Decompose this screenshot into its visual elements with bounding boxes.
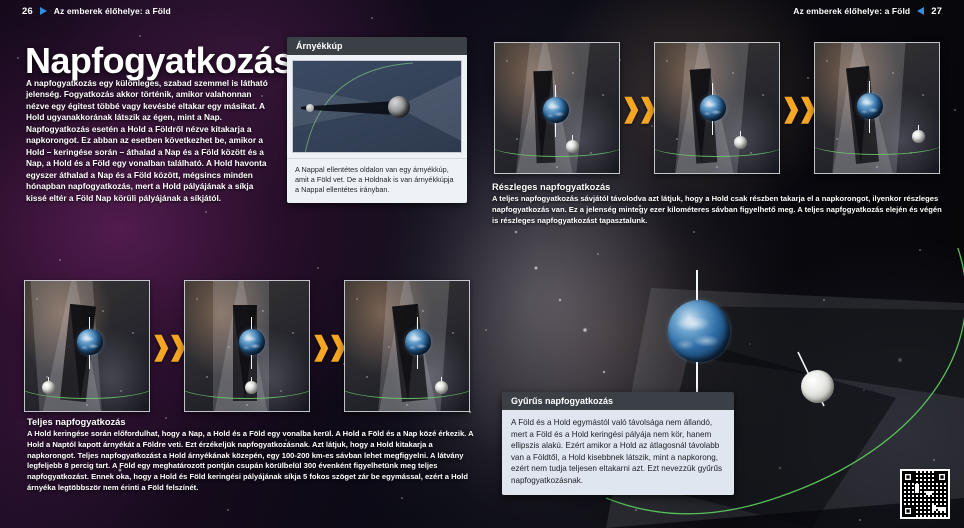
moon-sphere bbox=[734, 136, 747, 149]
page-number-left: 26 bbox=[22, 6, 33, 17]
shadow-cone-caption: A Nappal ellentétes oldalon van egy árny… bbox=[287, 158, 467, 203]
frame-background bbox=[185, 281, 309, 411]
qr-eye-bottom-left bbox=[902, 505, 914, 517]
frame-background bbox=[655, 43, 779, 173]
header-left: 26 Az emberek élőhelye: a Föld bbox=[22, 6, 171, 17]
total-eclipse-step-3 bbox=[344, 280, 470, 412]
frame-background bbox=[25, 281, 149, 411]
double-chevron-right-icon: ❱❱ bbox=[620, 95, 654, 121]
double-chevron-right-icon: ❱❱ bbox=[310, 333, 344, 359]
shadow-cone-title: Árnyékkúp bbox=[287, 37, 467, 55]
qr-quiet-cell bbox=[926, 491, 932, 495]
partial-eclipse-section: Részleges napfogyatkozás A teljes napfog… bbox=[492, 182, 944, 226]
total-eclipse-sequence: ❱❱ ❱❱ bbox=[24, 280, 470, 412]
frame-background bbox=[495, 43, 619, 173]
partial-eclipse-step-2 bbox=[654, 42, 780, 174]
shadow-cone-figure-wrap bbox=[287, 55, 467, 158]
header-right: Az emberek élőhelye: a Föld 27 bbox=[793, 6, 942, 17]
earth-sphere-in-cone-diagram bbox=[388, 96, 410, 118]
annular-eclipse-text: A Föld és a Hold egymástól való távolság… bbox=[502, 410, 734, 495]
earth-moon-shadow-cone-diagram bbox=[292, 60, 462, 153]
qr-eye-top-left bbox=[902, 471, 914, 483]
triangle-right-icon[interactable] bbox=[40, 7, 47, 15]
earth-globe bbox=[405, 329, 431, 355]
qr-quiet-cell bbox=[932, 505, 936, 511]
orbit-path bbox=[495, 131, 619, 157]
total-eclipse-section: Teljes napfogyatkozás A Hold keringése s… bbox=[27, 417, 483, 494]
triangle-left-icon[interactable] bbox=[917, 7, 924, 15]
moon-sphere bbox=[42, 381, 55, 394]
orbit-path bbox=[345, 371, 469, 399]
magazine-spread-page: 26 Az emberek élőhelye: a Föld Az embere… bbox=[0, 0, 964, 528]
moon-sphere bbox=[245, 381, 258, 394]
moon-sphere bbox=[435, 381, 448, 394]
partial-eclipse-step-3 bbox=[814, 42, 940, 174]
qr-code-pattern bbox=[902, 471, 948, 517]
qr-eye-top-right bbox=[936, 471, 948, 483]
annular-eclipse-card: Gyűrűs napfogyatkozás A Föld és a Hold e… bbox=[502, 392, 734, 495]
earth-globe bbox=[857, 93, 883, 119]
earth-globe bbox=[700, 95, 726, 121]
moon-sphere bbox=[912, 130, 925, 143]
header-title-right: Az emberek élőhelye: a Föld bbox=[793, 6, 910, 16]
total-eclipse-heading: Teljes napfogyatkozás bbox=[27, 417, 483, 427]
qr-quiet-cell bbox=[938, 507, 946, 511]
annular-eclipse-heading: Gyűrűs napfogyatkozás bbox=[502, 392, 734, 410]
moon-sphere-in-cone-diagram bbox=[306, 104, 314, 112]
double-chevron-right-icon: ❱❱ bbox=[150, 333, 184, 359]
intro-paragraph: A napfogyatkozás egy különleges, szabad … bbox=[26, 78, 268, 204]
page-number-right: 27 bbox=[931, 6, 942, 17]
earth-globe bbox=[77, 329, 103, 355]
earth-globe bbox=[668, 300, 730, 362]
page-title: Napfogyatkozás bbox=[25, 40, 293, 82]
earth-globe bbox=[543, 97, 569, 123]
partial-eclipse-heading: Részleges napfogyatkozás bbox=[492, 182, 944, 192]
double-chevron-right-icon: ❱❱ bbox=[780, 95, 814, 121]
moon-sphere bbox=[801, 370, 834, 403]
qr-quiet-cell bbox=[915, 484, 919, 493]
partial-eclipse-sequence: ❱❱ ❱❱ bbox=[494, 42, 940, 174]
orbit-path bbox=[655, 131, 779, 157]
moon-sphere bbox=[566, 140, 579, 153]
qr-code[interactable] bbox=[900, 469, 950, 519]
partial-eclipse-step-1 bbox=[494, 42, 620, 174]
page-header: 26 Az emberek élőhelye: a Föld Az embere… bbox=[0, 0, 964, 22]
shadow-cone-panel: Árnyékkúp A Nappal el bbox=[287, 37, 467, 203]
total-eclipse-text: A Hold keringése során előfordulhat, hog… bbox=[27, 429, 483, 494]
frame-background bbox=[345, 281, 469, 411]
earth-globe bbox=[239, 329, 265, 355]
header-title-left: Az emberek élőhelye: a Föld bbox=[54, 6, 171, 16]
total-eclipse-step-2 bbox=[184, 280, 310, 412]
total-eclipse-step-1 bbox=[24, 280, 150, 412]
frame-background bbox=[815, 43, 939, 173]
partial-eclipse-text: A teljes napfogyatkozás sávjától távolod… bbox=[492, 194, 944, 226]
